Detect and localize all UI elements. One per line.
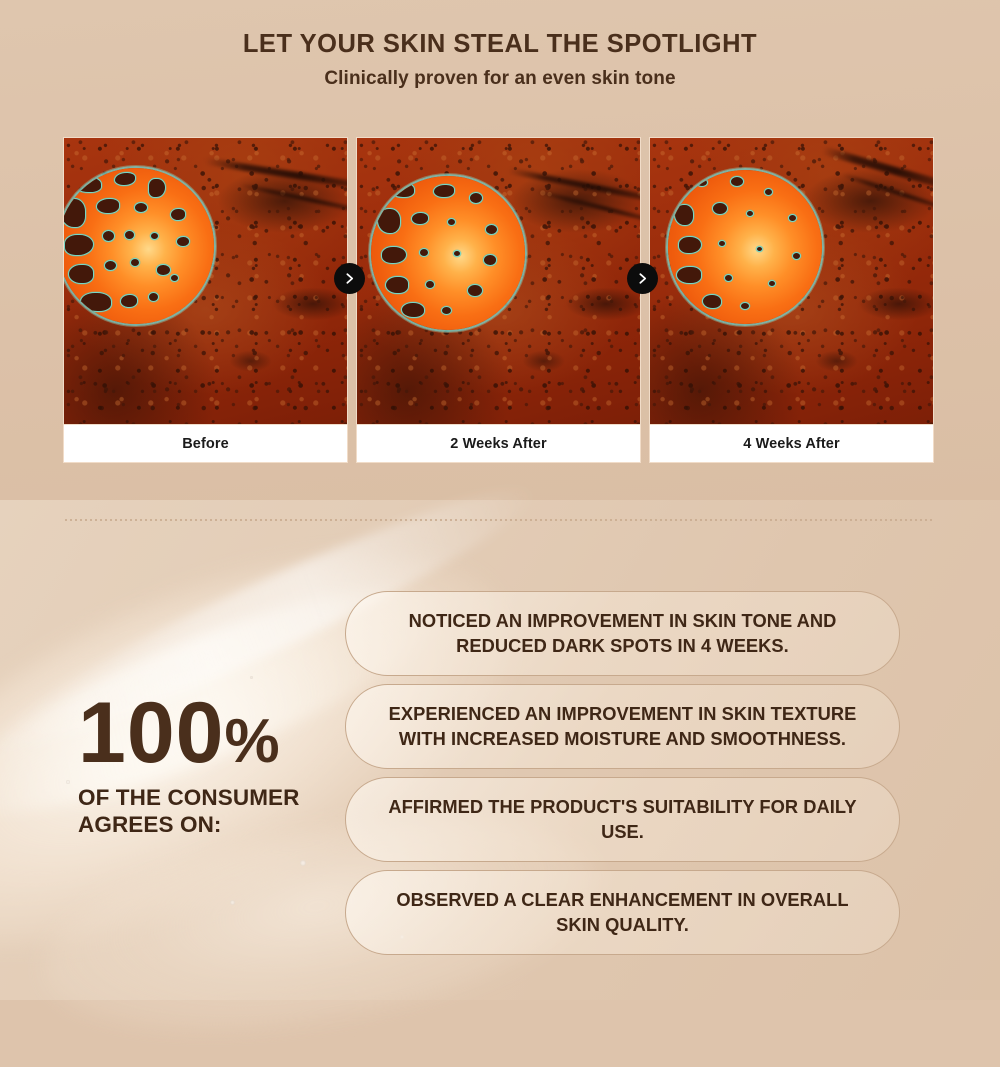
dark-spot [469, 192, 483, 204]
skin-analysis-image-2-weeks [356, 137, 641, 425]
dark-spot [696, 178, 708, 187]
skin-analysis-image-before [63, 137, 348, 425]
page-title: LET YOUR SKIN STEAL THE SPOTLIGHT [0, 30, 1000, 58]
claim-text: AFFIRMED THE PRODUCT'S SUITABILITY FOR D… [380, 795, 865, 844]
before-after-comparison: Before [63, 137, 935, 463]
dark-spot [134, 202, 148, 213]
claim-pill: AFFIRMED THE PRODUCT'S SUITABILITY FOR D… [345, 777, 900, 862]
skin-analysis-image-4-weeks [649, 137, 934, 425]
claim-text: NOTICED AN IMPROVEMENT IN SKIN TONE AND … [380, 609, 865, 658]
analysis-zone-2-weeks [369, 174, 527, 332]
claim-pill: OBSERVED A CLEAR ENHANCEMENT IN OVERALL … [345, 870, 900, 955]
panel-label-text: Before [182, 436, 229, 452]
claim-text: OBSERVED A CLEAR ENHANCEMENT IN OVERALL … [380, 888, 865, 937]
percent-sign: % [225, 707, 281, 776]
dark-spot [746, 210, 754, 217]
stat-percentage: 100% [78, 694, 338, 773]
dark-spot [792, 252, 801, 260]
panel-label-text: 2 Weeks After [450, 436, 546, 452]
dark-spot [156, 264, 171, 276]
dark-spot [389, 182, 415, 198]
dark-spot [124, 230, 135, 240]
dark-spot [72, 176, 102, 193]
dark-spot [96, 198, 120, 214]
dark-spot [467, 284, 483, 297]
dark-spot [401, 302, 425, 318]
claim-text: EXPERIENCED AN IMPROVEMENT IN SKIN TEXTU… [380, 702, 865, 751]
dark-spot [425, 280, 435, 289]
dark-spot [718, 240, 726, 247]
dark-spot [176, 236, 190, 247]
dark-spot [674, 204, 694, 226]
dark-spot [768, 280, 776, 287]
dark-spot [483, 254, 497, 266]
dark-spot [102, 230, 115, 242]
panel-label-4-weeks: 4 Weeks After [649, 425, 934, 463]
dark-spot [377, 208, 401, 234]
dark-spot [453, 250, 461, 257]
dark-spot [150, 232, 159, 240]
stat-number-value: 100 [78, 685, 225, 781]
dark-spot [740, 302, 750, 310]
dark-spot [419, 248, 429, 257]
dark-spot [712, 202, 728, 215]
chevron-right-icon[interactable] [627, 263, 658, 294]
dark-spot [120, 294, 138, 308]
dark-spot [433, 184, 455, 198]
dark-spot [788, 214, 797, 222]
section-divider [65, 519, 935, 521]
chevron-right-icon[interactable] [334, 263, 365, 294]
dark-spot [411, 212, 429, 225]
consumer-stat-block: 100% OF THE CONSUMER AGREES ON: [78, 694, 338, 838]
dark-spot [764, 188, 773, 196]
panel-label-2-weeks: 2 Weeks After [356, 425, 641, 463]
dark-spot [676, 266, 702, 284]
dark-spot [104, 260, 117, 271]
dark-spot [724, 274, 733, 282]
comparison-panel-before[interactable]: Before [63, 137, 348, 463]
comparison-panel-4-weeks[interactable]: 4 Weeks After [649, 137, 934, 463]
dark-spot [756, 246, 763, 252]
comparison-panel-2-weeks[interactable]: 2 Weeks After [356, 137, 641, 463]
claim-pill: EXPERIENCED AN IMPROVEMENT IN SKIN TEXTU… [345, 684, 900, 769]
dark-spot [485, 224, 498, 235]
dark-spot [441, 306, 452, 315]
dark-spot [702, 294, 722, 309]
page-subtitle: Clinically proven for an even skin tone [0, 68, 1000, 90]
dark-spot [80, 292, 112, 312]
dark-spot [68, 264, 94, 284]
panel-label-text: 4 Weeks After [743, 436, 839, 452]
analysis-zone-4-weeks [666, 168, 824, 326]
dark-spot [148, 292, 159, 302]
dark-spot [170, 274, 179, 282]
dark-spot [170, 208, 186, 221]
header: LET YOUR SKIN STEAL THE SPOTLIGHT Clinic… [0, 30, 1000, 90]
dark-spot [385, 276, 409, 294]
claims-list: NOTICED AN IMPROVEMENT IN SKIN TONE AND … [345, 591, 900, 955]
stat-caption: OF THE CONSUMER AGREES ON: [78, 784, 338, 838]
dark-spot [63, 198, 86, 228]
dark-spot [130, 258, 140, 267]
dark-spot [730, 176, 744, 187]
dark-spot [447, 218, 456, 226]
claim-pill: NOTICED AN IMPROVEMENT IN SKIN TONE AND … [345, 591, 900, 676]
panel-label-before: Before [63, 425, 348, 463]
analysis-zone-before [63, 166, 216, 326]
